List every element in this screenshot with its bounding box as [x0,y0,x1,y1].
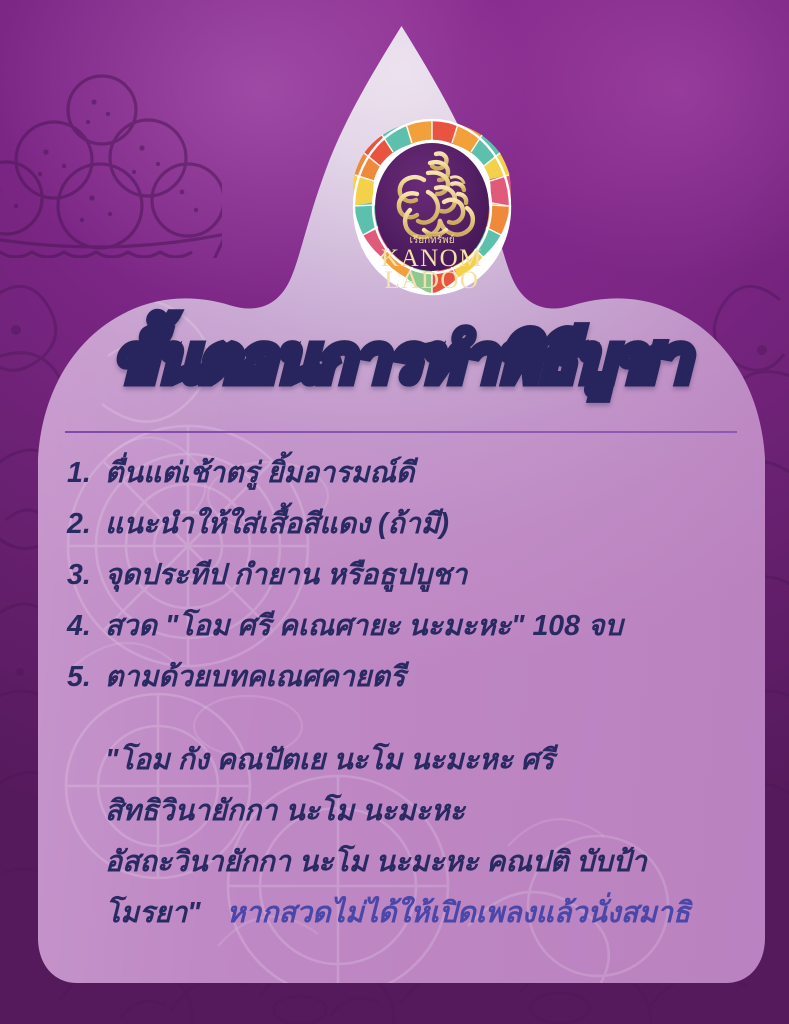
mantra-line: อัสถะวินายักกา นะโม นะมะหะ คณปติ บับป้า [38,847,765,879]
list-item: 1. ตื่นแต่เช้าตรู่ ยิ้มอารมณ์ดี [38,458,765,490]
list-item-number: 2. [38,509,105,541]
brand-logo: เรียกทรัพย์ KANOM LADOO [332,118,532,296]
page-title: ขั้นตอนการทำพิธีบูชา [113,329,689,392]
list-item: 3. จุดประทีป กำยาน หรือธูปบูชา [38,560,765,592]
page-title-container: ขั้นตอนการทำพิธีบูชา [38,314,765,406]
mantra-line-last: โมรยา"หากสวดไม่ได้ให้เปิดเพลงแล้วนั่งสมา… [38,898,765,930]
mantra-block: "โอม กัง คณปัตเย นะโม นะมะหะ ศรี สิทธิวิ… [38,745,765,949]
list-item: 4. สวด "โอม ศรี คเณศายะ นะมะหะ" 108 จบ [38,611,765,643]
mantra-note: หากสวดไม่ได้ให้เปิดเพลงแล้วนั่งสมาธิ [227,897,691,929]
divider [65,431,737,433]
mantra-line-text: โมรยา" [105,897,201,929]
list-item-text: สวด "โอม ศรี คเณศายะ นะมะหะ" 108 จบ [105,611,765,643]
list-item-number: 1. [38,458,105,490]
logo-name-line2: LADOO [385,267,480,294]
mantra-line: สิทธิวินายักกา นะโม นะมะหะ [38,796,765,828]
list-item-number: 4. [38,611,105,643]
list-item-number: 5. [38,662,105,694]
list-item: 5. ตามด้วยบทคเณศคายตรี [38,662,765,694]
poster-root: เรียกทรัพย์ KANOM LADOO ขั้นตอนการทำพิธี… [0,0,789,1024]
list-item: 2. แนะนำให้ใส่เสื้อสีแดง (ถ้ามี) [38,509,765,541]
steps-list: 1. ตื่นแต่เช้าตรู่ ยิ้มอารมณ์ดี 2. แนะนำ… [38,458,765,713]
list-item-text: ตามด้วยบทคเณศคายตรี [105,662,765,694]
list-item-text: ตื่นแต่เช้าตรู่ ยิ้มอารมณ์ดี [105,458,765,490]
content-card: เรียกทรัพย์ KANOM LADOO ขั้นตอนการทำพิธี… [38,26,765,983]
list-item-text: จุดประทีป กำยาน หรือธูปบูชา [105,560,765,592]
mantra-line: "โอม กัง คณปัตเย นะโม นะมะหะ ศรี [38,745,765,777]
list-item-number: 3. [38,560,105,592]
list-item-text: แนะนำให้ใส่เสื้อสีแดง (ถ้ามี) [105,509,765,541]
